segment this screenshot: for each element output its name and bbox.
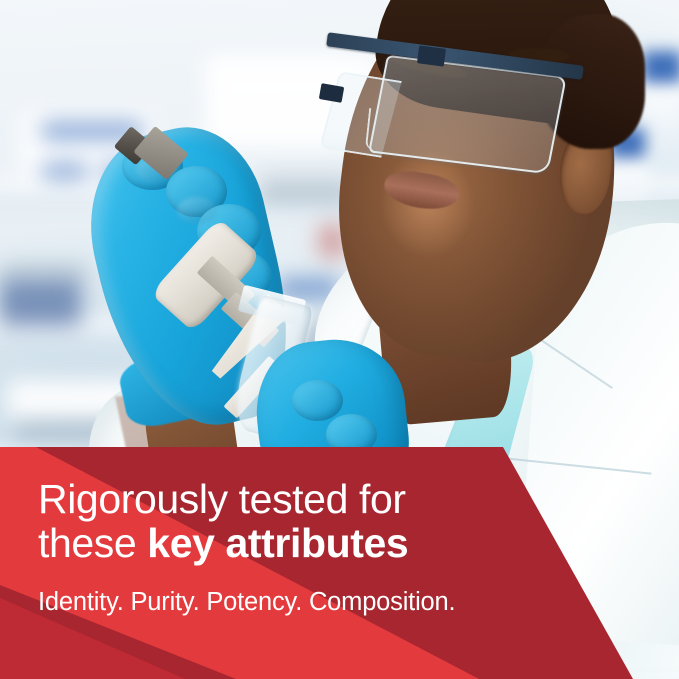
headline-line-2-bold: key attributes <box>147 520 408 566</box>
glove-knuckle-highlight-2 <box>177 197 218 224</box>
poster-root: Rigorously tested for these key attribut… <box>0 0 679 679</box>
subline: Identity. Purity. Potency. Composition. <box>38 587 508 617</box>
headline-line-2-normal: these <box>38 520 147 566</box>
shelf-container-lid <box>0 265 88 279</box>
safety-glasses-hinge <box>417 45 446 66</box>
glove-lower-finger-1 <box>292 380 343 421</box>
banner-text-block: Rigorously tested for these key attribut… <box>38 477 508 617</box>
headline-line-1: Rigorously tested for <box>38 476 406 522</box>
bottle-cap-blue-3 <box>642 51 679 83</box>
headline: Rigorously tested for these key attribut… <box>38 477 508 565</box>
safety-glasses-nose-bridge <box>365 108 391 151</box>
glove-lower-finger-2 <box>326 414 377 455</box>
shelf-label-blue-2 <box>41 163 89 179</box>
shelf-container-navy <box>0 278 81 326</box>
